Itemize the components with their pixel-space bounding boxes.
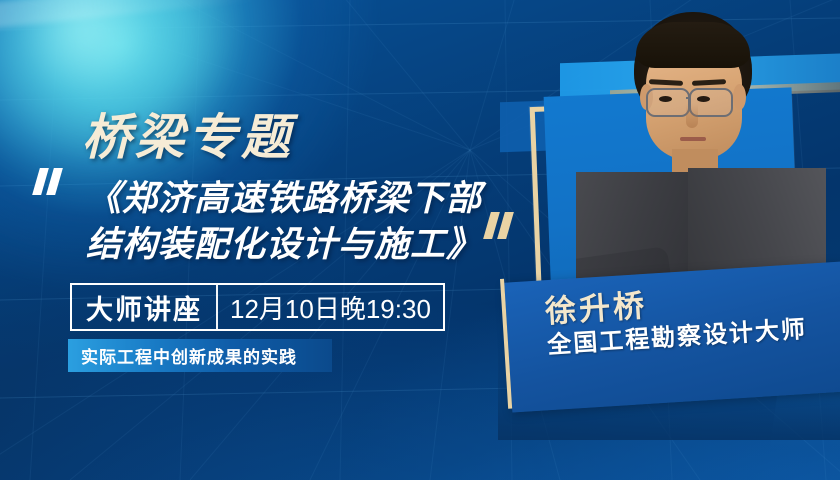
quote-close-icon — [487, 212, 510, 239]
subtitle-bar: 实际工程中创新成果的实践 — [68, 339, 332, 372]
lecture-book-title: 《郑济高速铁路桥梁下部 结构装配化设计与施工》 — [86, 176, 506, 268]
webinar-poster: 徐升桥 全国工程勘察设计大师 桥梁专题 《郑济高速铁路桥梁下部 结构装配化设计与… — [0, 0, 840, 480]
lecture-book-title-line2: 结构装配化设计与施工》 — [86, 222, 506, 268]
lecture-schedule-badge: 大师讲座 12月10日晚19:30 — [70, 283, 445, 331]
page-title: 桥梁专题 — [82, 98, 294, 169]
lecture-book-title-line1: 《郑济高速铁路桥梁下部 — [86, 176, 506, 222]
quote-open-icon — [36, 168, 59, 195]
subtitle-text: 实际工程中创新成果的实践 — [68, 343, 297, 368]
badge-datetime: 12月10日晚19:30 — [218, 285, 443, 329]
badge-divider — [216, 285, 218, 329]
badge-label: 大师讲座 — [72, 285, 216, 329]
